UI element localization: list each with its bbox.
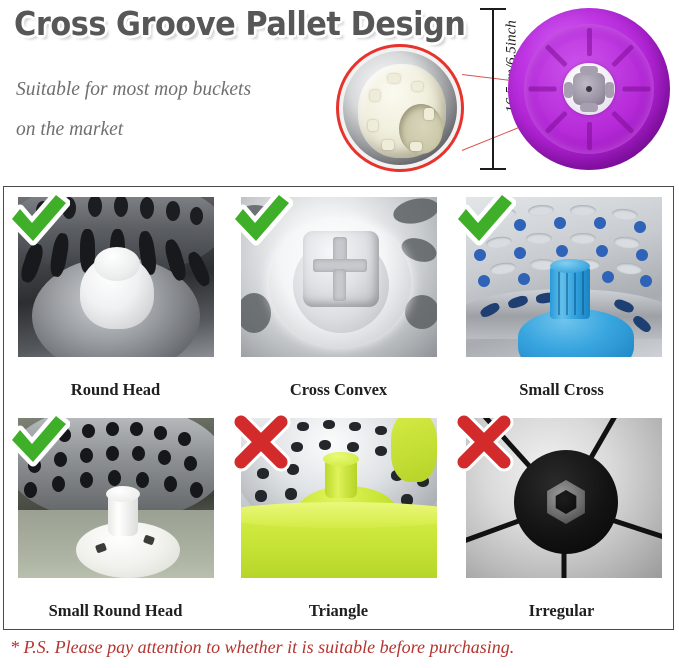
spindle-cap: [106, 486, 140, 502]
cell-label: Cross Convex: [227, 380, 450, 400]
magnifier-callout: [336, 44, 464, 172]
disc-spoke: [587, 122, 592, 150]
compatibility-cell-small-cross: Small Cross: [450, 187, 673, 408]
disc-spoke: [529, 87, 557, 92]
cross-icon: [452, 410, 516, 474]
dimension-cap-top: [480, 8, 506, 10]
disc-spoke: [587, 28, 592, 56]
check-icon: [6, 189, 70, 253]
bucket-green-wall: [391, 418, 437, 482]
header-section: Cross Groove Pallet Design Suitable for …: [0, 0, 679, 186]
check-icon: [229, 189, 293, 253]
dimension-cap-bottom: [480, 168, 506, 170]
bucket-rim-highlight: [241, 502, 437, 528]
hub-lobe: [605, 82, 614, 98]
compatibility-cell-cross-convex: Cross Convex: [227, 187, 450, 408]
compatibility-cell-irregular: Irregular: [450, 408, 673, 629]
hub-lobe: [580, 66, 598, 75]
socket-tooth: [424, 108, 434, 120]
subtitle: Suitable for most mop buckets on the mar…: [16, 70, 346, 150]
spindle-top: [94, 247, 140, 281]
socket-tooth: [382, 140, 394, 150]
spindle-cap: [550, 259, 590, 273]
cell-label: Small Round Head: [4, 601, 227, 621]
cross-icon: [229, 410, 293, 474]
footer-note: * P.S. Please pay attention to whether i…: [10, 637, 675, 658]
check-icon: [6, 410, 70, 474]
socket-tooth: [410, 142, 422, 151]
compatibility-frame: Round Head: [3, 186, 674, 630]
cell-label: Small Cross: [450, 380, 673, 400]
compatibility-grid: Round Head: [4, 187, 673, 629]
page-title: Cross Groove Pallet Design: [14, 4, 465, 43]
socket-tooth: [370, 90, 380, 101]
socket-tooth: [368, 120, 378, 131]
socket-plastic-body: [358, 64, 446, 158]
socket-tooth: [412, 82, 423, 91]
check-icon: [452, 189, 516, 253]
disc-spoke: [623, 87, 651, 92]
hub-lobe: [580, 103, 598, 112]
compatibility-cell-round-head: Round Head: [4, 187, 227, 408]
subtitle-line-2: on the market: [16, 110, 346, 150]
cell-label: Triangle: [227, 601, 450, 621]
cell-label: Round Head: [4, 380, 227, 400]
hub-center-dot: [586, 86, 592, 92]
compatibility-cell-small-round-head: Small Round Head: [4, 408, 227, 629]
subtitle-line-1: Suitable for most mop buckets: [16, 70, 346, 110]
spindle-cap: [323, 452, 359, 466]
purple-pallet-disc: [508, 8, 670, 170]
compatibility-cell-triangle: Triangle: [227, 408, 450, 629]
socket-tooth: [388, 74, 400, 83]
cell-label: Irregular: [450, 601, 673, 621]
dimension-line: [492, 8, 494, 170]
hub-lobe: [564, 82, 573, 98]
